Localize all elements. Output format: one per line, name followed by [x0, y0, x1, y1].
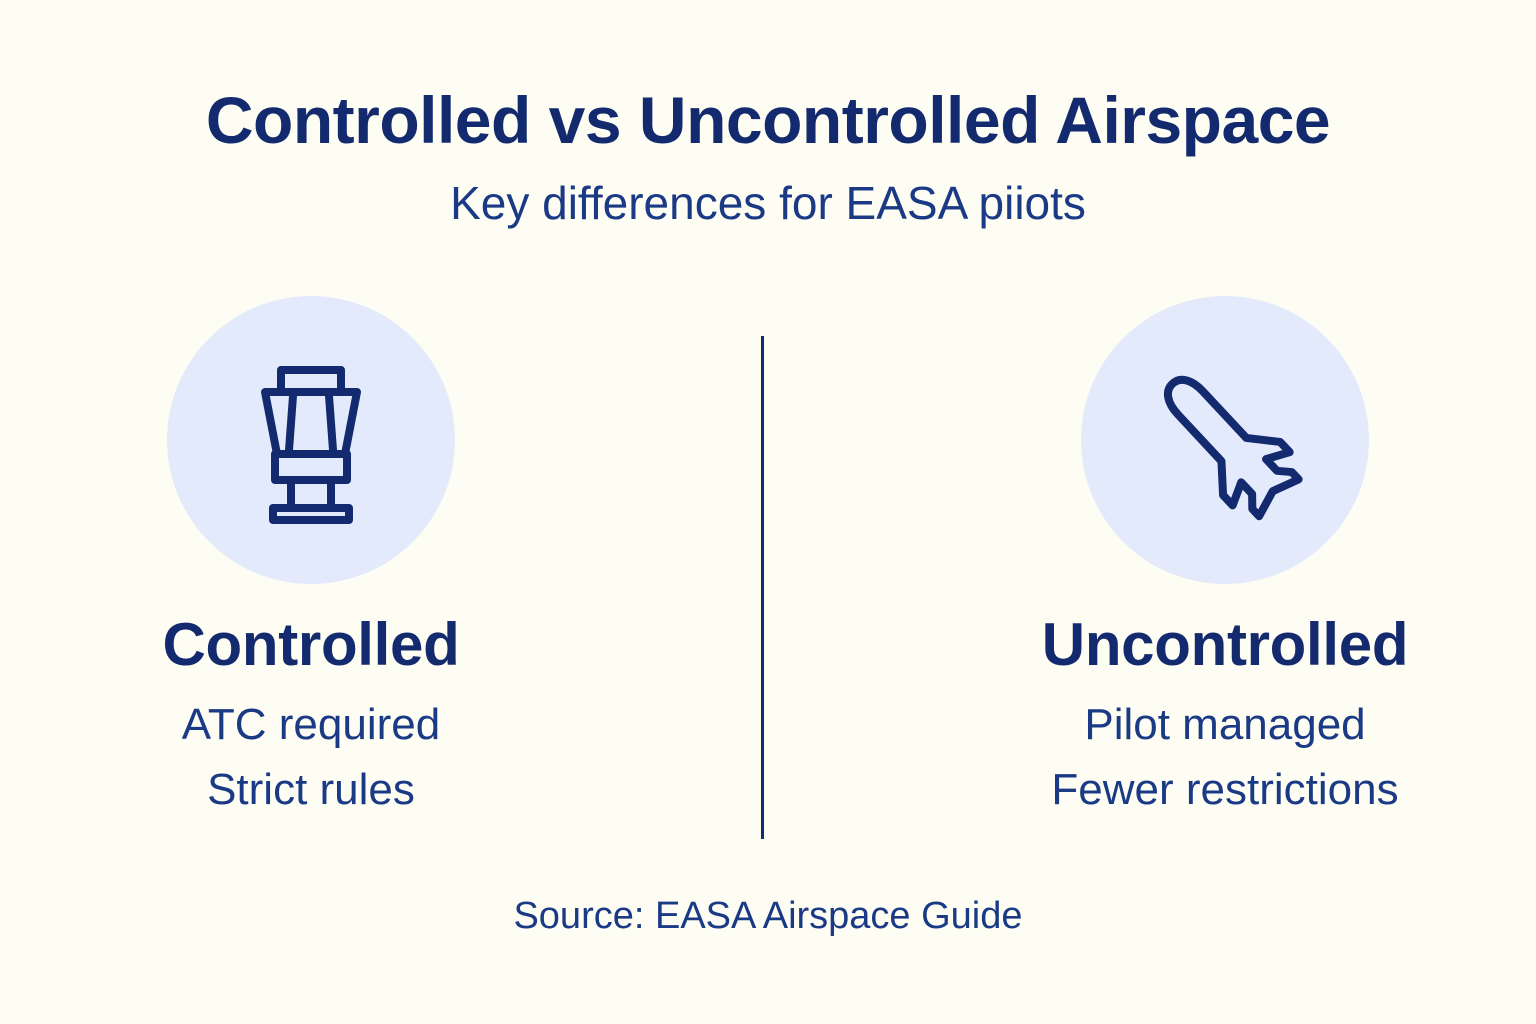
column-heading-uncontrolled: Uncontrolled	[1042, 612, 1408, 678]
source-attribution: Source: EASA Airspace Guide	[513, 895, 1022, 937]
page-subtitle: Key differences for EASA piiots	[0, 178, 1536, 229]
column-detail-line: Pilot managed	[1084, 700, 1365, 749]
column-heading-controlled: Controlled	[163, 612, 460, 678]
column-controlled: Controlled ATC required Strict rules	[6, 296, 768, 815]
header: Controlled vs Uncontrolled Airspace Key …	[0, 86, 1536, 229]
airplane-icon	[1130, 345, 1320, 535]
column-divider	[761, 336, 764, 839]
airplane-icon-circle	[1081, 296, 1369, 584]
column-uncontrolled: Uncontrolled Pilot managed Fewer restric…	[768, 296, 1530, 815]
column-detail-line: Strict rules	[207, 765, 415, 814]
infographic-canvas: Controlled vs Uncontrolled Airspace Key …	[0, 0, 1536, 1024]
column-detail-line: Fewer restrictions	[1051, 765, 1398, 814]
page-title: Controlled vs Uncontrolled Airspace	[0, 86, 1536, 156]
comparison-section: Controlled ATC required Strict rules Unc…	[0, 296, 1536, 856]
control-tower-icon	[221, 350, 401, 530]
footer: Source: EASA Airspace Guide	[0, 895, 1536, 938]
column-detail-line: ATC required	[182, 700, 440, 749]
control-tower-icon-circle	[167, 296, 455, 584]
